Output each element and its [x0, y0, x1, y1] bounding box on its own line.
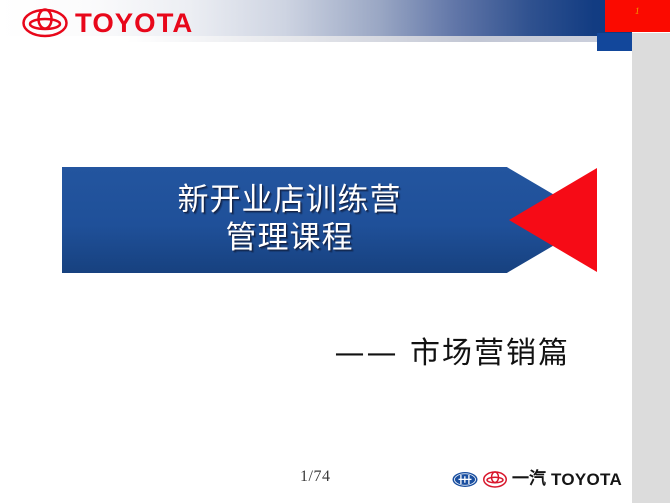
title-line-1: 新开业店训练营: [178, 182, 402, 220]
header-blue-tab: [597, 33, 632, 51]
subtitle-text: —— 市场营销篇: [0, 328, 570, 372]
header-brand-logo: TOYOTA: [22, 8, 191, 38]
faw-emblem-icon: [452, 471, 478, 488]
footer-brand-lockup: 一汽 TOYOTA: [452, 468, 622, 490]
toyota-ellipse-logo-icon: [483, 471, 507, 488]
title-text-block: 新开业店训练营 管理课程: [62, 167, 517, 273]
footer-cn-text: 一汽: [512, 471, 546, 488]
toyota-ellipse-logo-icon: [22, 8, 68, 38]
title-line-2: 管理课程: [226, 220, 354, 258]
page-number-badge-value: 1: [635, 7, 640, 16]
title-banner: 新开业店训练营 管理课程: [62, 167, 597, 273]
page-counter: 1/74: [300, 468, 330, 486]
footer-latin-text: TOYOTA: [551, 471, 622, 488]
header-wordmark: TOYOTA: [75, 10, 193, 37]
page-number-badge: 1: [605, 0, 670, 32]
slide-canvas: TOYOTA 1 新开业店训练营 管理课程 —— 市场营销篇 1/74: [0, 0, 670, 503]
right-edge-strip: [632, 33, 670, 503]
